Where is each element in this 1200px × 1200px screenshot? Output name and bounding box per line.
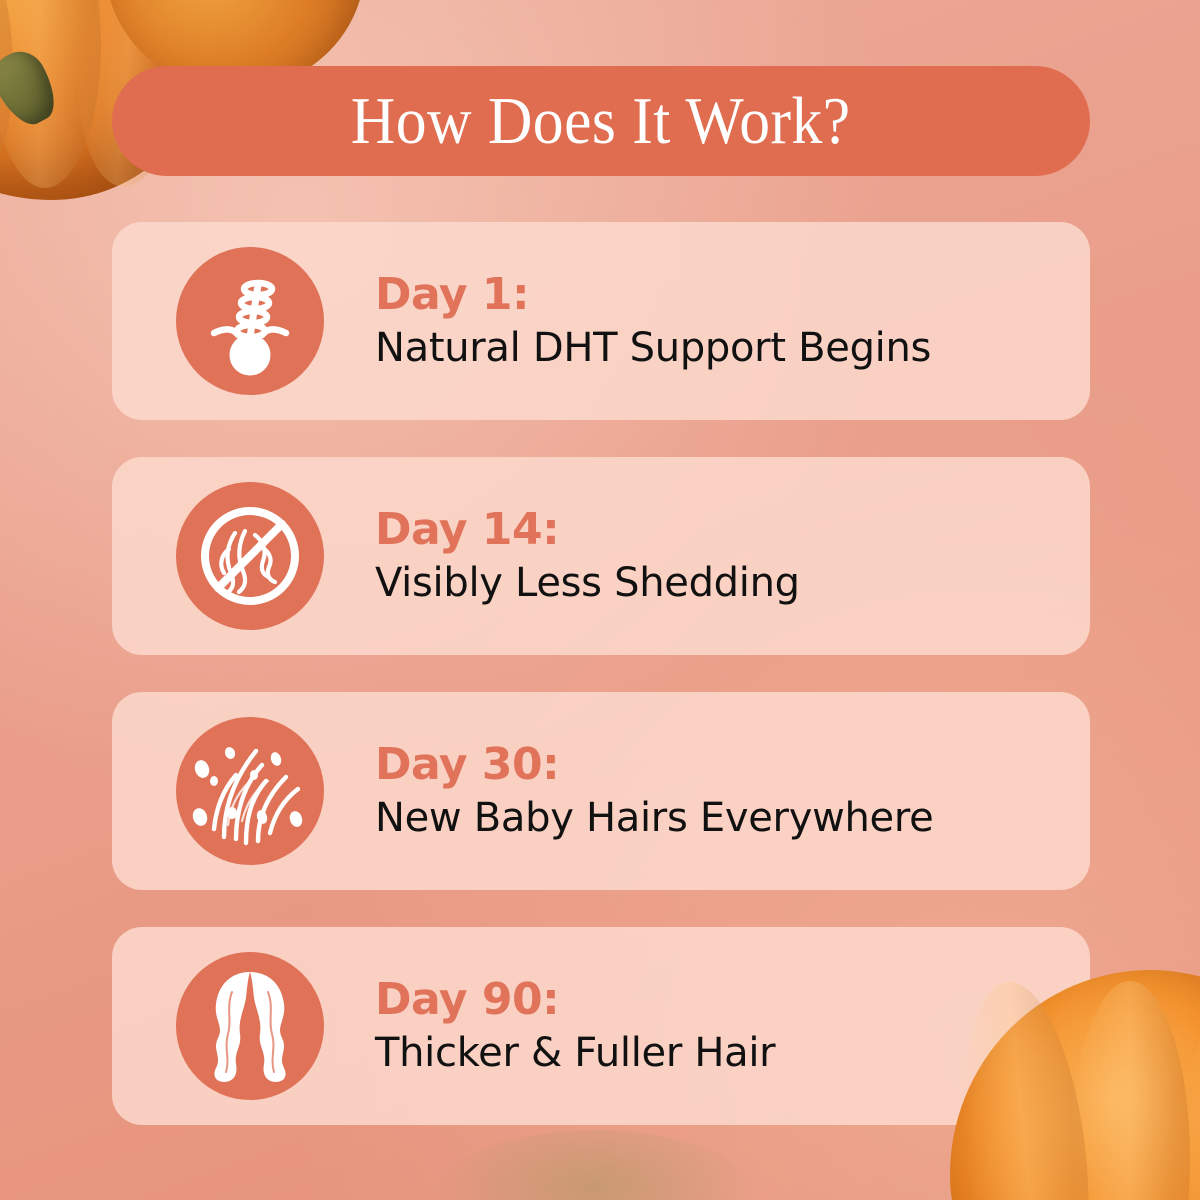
step-description: Thicker & Fuller Hair: [375, 1029, 775, 1078]
infographic-canvas: How Does It Work?: [0, 0, 1200, 1200]
list-item[interactable]: Day 90: Thicker & Fuller Hair: [112, 927, 1090, 1125]
leaf-bottom-center-image: [430, 1130, 760, 1200]
list-item[interactable]: Day 1: Natural DHT Support Begins: [112, 222, 1090, 420]
list-item[interactable]: Day 14: Visibly Less Shedding: [112, 457, 1090, 655]
pumpkin-stem: [0, 43, 65, 133]
step-description: Visibly Less Shedding: [375, 559, 800, 608]
list-item[interactable]: Day 30: New Baby Hairs Everywhere: [112, 692, 1090, 890]
new-hair-growth-icon: [176, 717, 324, 865]
day-label: Day 30:: [375, 739, 933, 790]
hair-follicle-icon: [176, 247, 324, 395]
long-wavy-hair-icon: [176, 952, 324, 1100]
list-item-text: Day 14: Visibly Less Shedding: [375, 504, 800, 608]
list-item-text: Day 30: New Baby Hairs Everywhere: [375, 739, 933, 843]
step-description: New Baby Hairs Everywhere: [375, 794, 933, 843]
pumpkin-rib: [0, 0, 24, 192]
list-item-text: Day 90: Thicker & Fuller Hair: [375, 974, 775, 1078]
page-title: How Does It Work?: [351, 88, 851, 155]
step-description: Natural DHT Support Begins: [375, 324, 931, 373]
title-banner: How Does It Work?: [112, 66, 1090, 176]
pumpkin-rib: [0, 0, 101, 188]
day-label: Day 1:: [375, 269, 931, 320]
pumpkin-rib: [1156, 976, 1200, 1200]
day-label: Day 14:: [375, 504, 800, 555]
list-item-text: Day 1: Natural DHT Support Begins: [375, 269, 931, 373]
no-hair-shedding-icon: [176, 482, 324, 630]
timeline-list: Day 1: Natural DHT Support Begins: [112, 222, 1090, 1125]
day-label: Day 90:: [375, 974, 775, 1025]
